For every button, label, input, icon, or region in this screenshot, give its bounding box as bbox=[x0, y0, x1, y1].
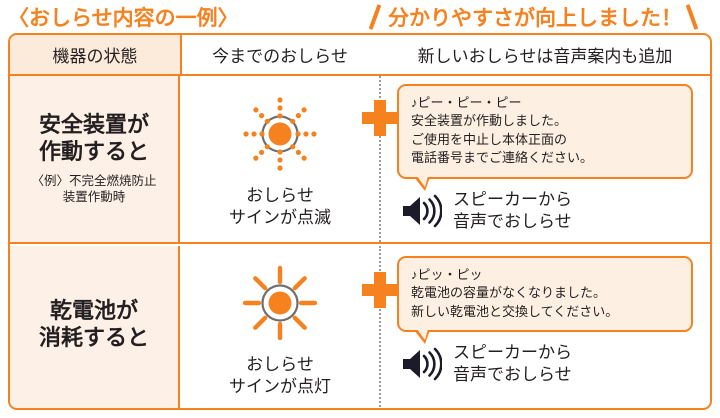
comparison-table: 機器の状態 今までのおしらせ 新しいおしらせは音声案内も追加 安全装置が 作動す… bbox=[8, 33, 712, 410]
table-row: 乾電池が 消耗すると bbox=[10, 246, 710, 410]
column-header-device-state: 機器の状態 bbox=[10, 35, 180, 74]
left-title: 〈おしらせ内容の一例〉 bbox=[8, 2, 239, 32]
device-state-cell: 乾電池が 消耗すると bbox=[10, 246, 180, 410]
old-notification-label: おしらせ サインが点灯 bbox=[229, 354, 331, 398]
voice-message-text: ♪ピー・ピー・ピー 安全装置が作動しました。 ご使用を中止し本体正面の 電話番号… bbox=[411, 94, 680, 168]
speaker-announcement-label: スピーカーから 音声でおしらせ bbox=[453, 342, 572, 386]
speaker-icon bbox=[400, 194, 442, 228]
voice-message-bubble: ♪ピー・ピー・ピー 安全装置が作動しました。 ご使用を中止し本体正面の 電話番号… bbox=[397, 84, 693, 179]
old-notification-cell: おしらせ サインが点灯 bbox=[180, 246, 380, 410]
speaker-icon bbox=[400, 347, 442, 381]
left-emphasis-slash-icon bbox=[369, 4, 382, 30]
notification-sign-steady-icon bbox=[228, 258, 332, 348]
old-notification-cell: おしらせ サインが点滅 bbox=[180, 76, 380, 242]
speaker-announcement: スピーカーから 音声でおしらせ bbox=[400, 342, 572, 386]
column-header-old-notification: 今までのおしらせ bbox=[180, 35, 380, 74]
notification-sign-blinking-icon bbox=[228, 89, 332, 179]
speaker-announcement-label: スピーカーから 音声でおしらせ bbox=[453, 189, 572, 233]
speaker-announcement: スピーカーから 音声でおしらせ bbox=[400, 189, 572, 233]
right-emphasis-slash-icon bbox=[686, 4, 699, 30]
device-state-example: 〈例〉不完全燃焼防止 装置作動時 bbox=[31, 173, 156, 206]
right-title: 分かりやすさが向上しました！ bbox=[388, 2, 682, 32]
voice-message-bubble: ♪ピッ・ピッ 乾電池の容量がなくなりました。 新しい乾電池と交換してください。 bbox=[397, 256, 693, 332]
device-state-title: 乾電池が 消耗すると bbox=[39, 298, 149, 352]
device-state-cell: 安全装置が 作動すると 〈例〉不完全燃焼防止 装置作動時 bbox=[10, 76, 180, 242]
table-header-row: 機器の状態 今までのおしらせ 新しいおしらせは音声案内も追加 bbox=[10, 35, 710, 76]
column-header-new-notification: 新しいおしらせは音声案内も追加 bbox=[380, 35, 710, 74]
notification-comparison-figure: 〈おしらせ内容の一例〉 分かりやすさが向上しました！ 機器の状態 今までのおしら… bbox=[0, 0, 720, 418]
new-notification-cell: ♪ピッ・ピッ 乾電池の容量がなくなりました。 新しい乾電池と交換してください。 … bbox=[382, 246, 710, 410]
old-notification-label: おしらせ サインが点滅 bbox=[229, 185, 331, 229]
table-row: 安全装置が 作動すると 〈例〉不完全燃焼防止 装置作動時 bbox=[10, 76, 710, 244]
new-notification-cell: ♪ピー・ピー・ピー 安全装置が作動しました。 ご使用を中止し本体正面の 電話番号… bbox=[382, 76, 710, 242]
voice-message-text: ♪ピッ・ピッ 乾電池の容量がなくなりました。 新しい乾電池と交換してください。 bbox=[411, 266, 680, 321]
device-state-title: 安全装置が 作動すると bbox=[39, 112, 149, 166]
column-dotted-divider bbox=[379, 246, 381, 410]
